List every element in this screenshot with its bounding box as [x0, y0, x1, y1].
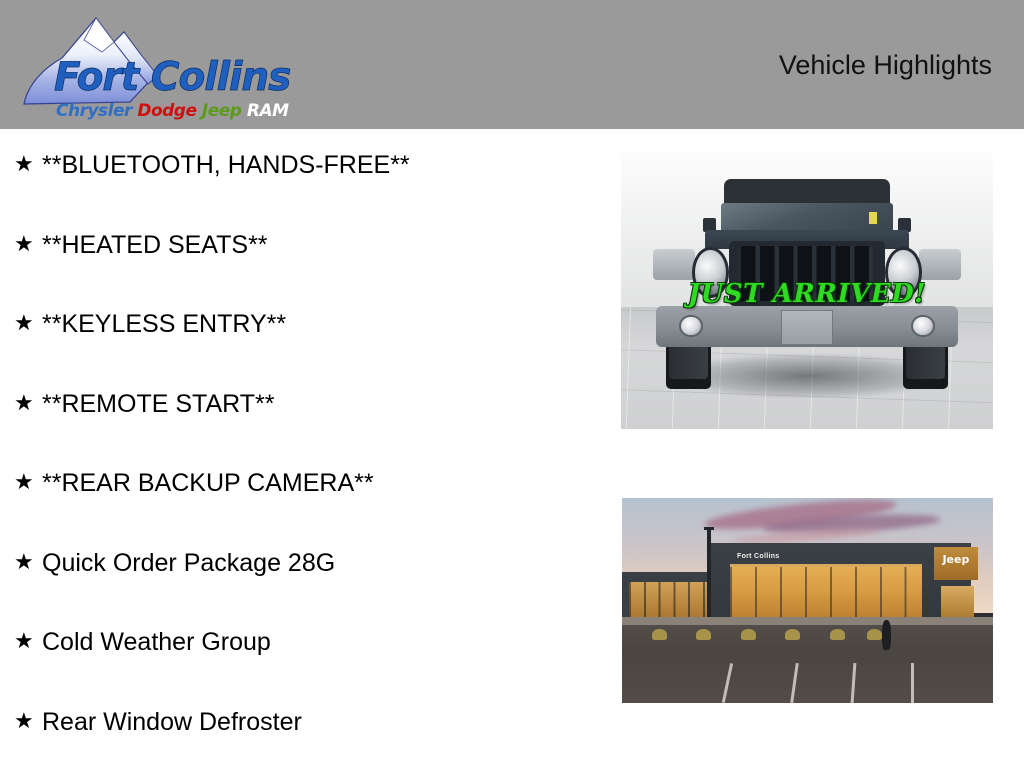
parking-stripe: [851, 663, 857, 703]
list-item-label: Cold Weather Group: [42, 625, 600, 659]
list-item: ★ Quick Order Package 28G: [0, 546, 600, 626]
parking-stripe: [790, 663, 798, 703]
entry-door: [941, 586, 974, 619]
brand-dodge: Dodge: [137, 101, 196, 121]
showroom-glass: [730, 564, 923, 622]
star-icon: ★: [14, 148, 42, 182]
star-icon: ★: [14, 228, 42, 262]
list-item: ★ **REMOTE START**: [0, 387, 600, 467]
bollard: [882, 620, 891, 649]
landscape-grass: [741, 629, 756, 640]
right-fog-lamp: [911, 315, 934, 338]
license-plate-bracket: [781, 310, 833, 345]
page-title: Vehicle Highlights: [779, 48, 992, 82]
list-item-label: **REAR BACKUP CAMERA**: [42, 466, 600, 500]
vehicle-highlights-list: ★ **BLUETOOTH, HANDS-FREE** ★ **HEATED S…: [0, 148, 600, 784]
building-sign-text: Fort Collins: [737, 553, 780, 560]
just-arrived-badge: JUST ARRIVED!: [621, 279, 993, 309]
list-item: ★ Cold Weather Group: [0, 625, 600, 705]
light-pole: [707, 527, 711, 621]
landscape-grass: [867, 629, 882, 640]
list-item: ★ **HEATED SEATS**: [0, 228, 600, 308]
landscape-grass: [785, 629, 800, 640]
vehicle-photo[interactable]: JUST ARRIVED!: [621, 151, 993, 429]
landscape-grass: [830, 629, 845, 640]
brand-chrysler: Chrysler: [56, 101, 132, 121]
adjacent-showroom-glass: [629, 582, 711, 619]
right-fender: [919, 249, 961, 280]
list-item-label: **HEATED SEATS**: [42, 228, 600, 262]
list-item-label: **REMOTE START**: [42, 387, 600, 421]
list-item-label: **BLUETOOTH, HANDS-FREE**: [42, 148, 600, 182]
brand-ram: RAM: [247, 101, 289, 121]
landscape-grass: [652, 629, 667, 640]
list-item-label: **KEYLESS ENTRY**: [42, 307, 600, 341]
dealer-logo[interactable]: Fort Collins Chrysler Dodge Jeep RAM: [18, 10, 290, 122]
list-item: ★ **REAR BACKUP CAMERA**: [0, 466, 600, 546]
star-icon: ★: [14, 307, 42, 341]
star-icon: ★: [14, 466, 42, 500]
list-item-label: Quick Order Package 28G: [42, 546, 600, 580]
logo-wordmark: Fort Collins: [54, 56, 304, 100]
parking-stripe: [722, 664, 733, 703]
star-icon: ★: [14, 705, 42, 739]
landscape-grass: [696, 629, 711, 640]
dealership-photo[interactable]: Fort Collins Jeep: [622, 498, 993, 703]
left-fog-lamp: [679, 315, 702, 338]
left-fender: [653, 249, 695, 280]
page-header: Fort Collins Chrysler Dodge Jeep RAM Veh…: [0, 0, 1024, 129]
star-icon: ★: [14, 546, 42, 580]
jeep-sign-text: Jeep: [934, 553, 979, 566]
logo-brand-line: Chrysler Dodge Jeep RAM: [56, 101, 289, 121]
list-item: ★ **KEYLESS ENTRY**: [0, 307, 600, 387]
list-item: ★ **BLUETOOTH, HANDS-FREE**: [0, 148, 600, 228]
brand-jeep: Jeep: [202, 101, 242, 121]
list-item-label: Rear Window Defroster: [42, 705, 600, 739]
parking-lot: [622, 617, 993, 703]
list-item: ★ Rear Window Defroster: [0, 705, 600, 784]
parking-stripe: [911, 663, 914, 703]
star-icon: ★: [14, 387, 42, 421]
curb: [622, 617, 993, 625]
star-icon: ★: [14, 625, 42, 659]
